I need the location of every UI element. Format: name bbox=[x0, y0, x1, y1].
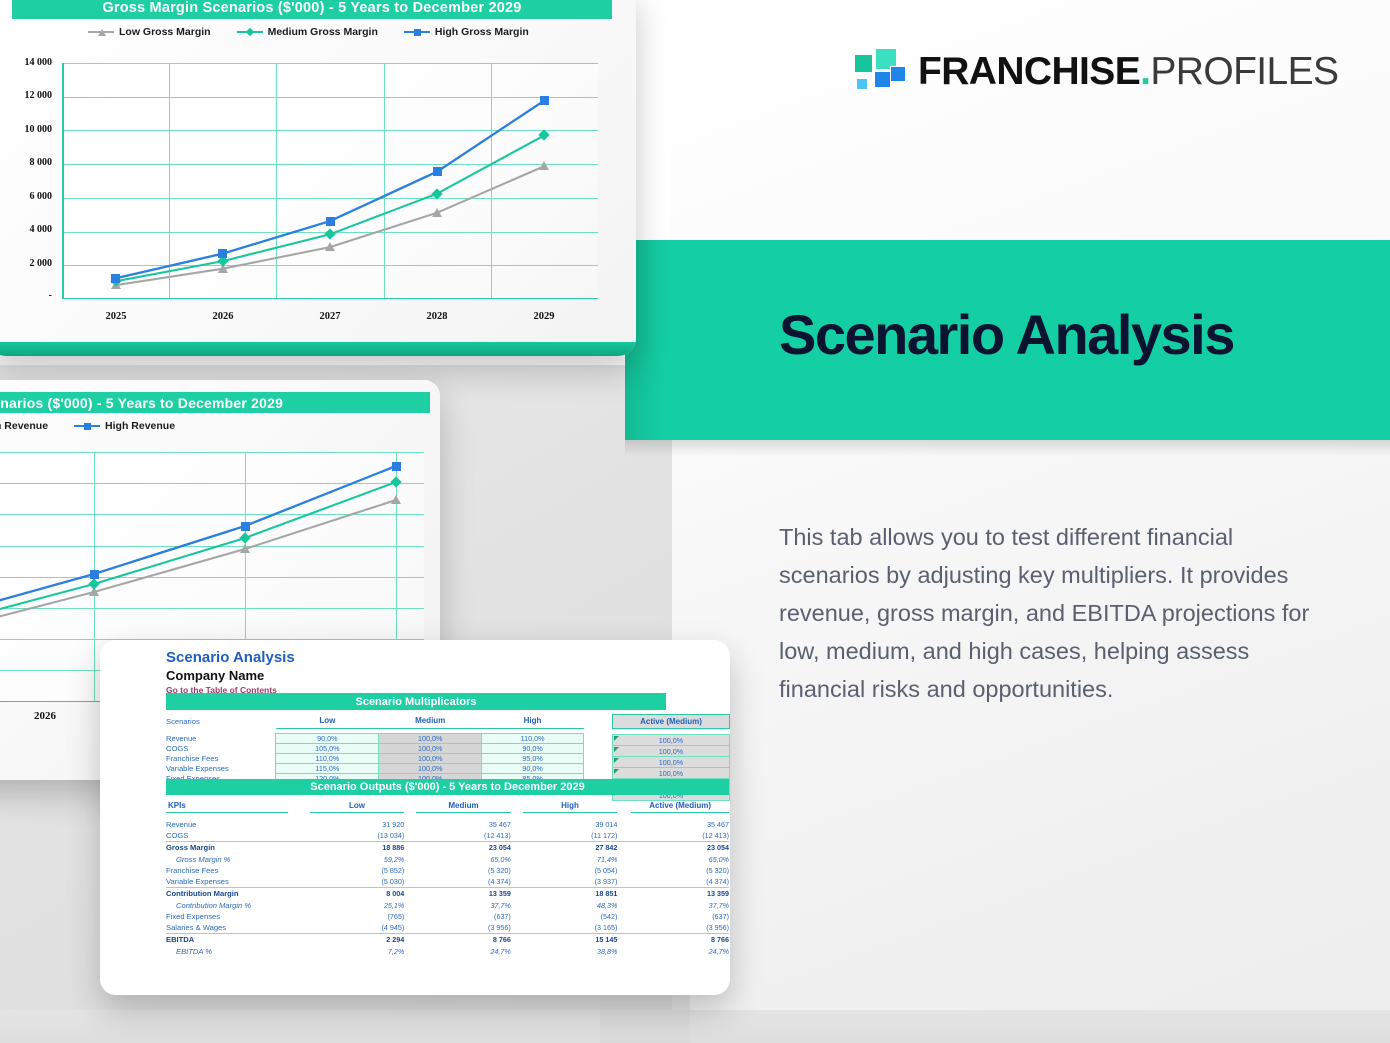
row-label: Revenue bbox=[166, 819, 288, 830]
column-header-high: High bbox=[482, 714, 584, 728]
comment-flag-icon bbox=[614, 736, 619, 741]
cell-high: 48,3% bbox=[523, 900, 618, 911]
cell-medium[interactable]: 100,0% bbox=[379, 753, 482, 763]
cell-high: (11 172) bbox=[523, 830, 618, 842]
cell-high: (3 165) bbox=[523, 922, 618, 934]
table-row: Variable Expenses (5 030) (4 374) (3 937… bbox=[166, 876, 729, 888]
gross-margin-plot-area bbox=[62, 63, 598, 299]
cell-low: 2 294 bbox=[310, 933, 405, 946]
cell-low[interactable]: 115,0% bbox=[276, 763, 379, 773]
table-row: Contribution Margin % 25,1% 37,7% 48,3% … bbox=[166, 900, 729, 911]
data-point bbox=[433, 167, 442, 176]
cell-active: (5 320) bbox=[631, 865, 729, 876]
data-point bbox=[540, 96, 549, 105]
cell-active: (4 374) bbox=[631, 876, 729, 888]
row-label: Franchise Fees bbox=[166, 865, 288, 876]
y-tick-8000: 8 000 bbox=[0, 157, 52, 168]
table-row: Gross Margin 18 886 23 054 27 842 23 054 bbox=[166, 841, 729, 854]
table-row: Salaries & Wages (4 945) (3 956) (3 165)… bbox=[166, 922, 729, 934]
table-row[interactable]: Variable Expenses 115,0% 100,0% 90,0% bbox=[166, 763, 584, 773]
x-tick-2026: 2026 bbox=[15, 710, 75, 722]
cell-low[interactable]: 90,0% bbox=[276, 733, 379, 743]
sheet-company-name: Company Name bbox=[166, 668, 264, 683]
gross-margin-chart-title: Gross Margin Scenarios ($'000) - 5 Years… bbox=[12, 0, 612, 19]
scenario-outputs-table: KPIs Low Medium High Active (Medium) Rev… bbox=[166, 799, 729, 957]
cell-medium: (4 374) bbox=[416, 876, 511, 888]
x-tick-2028: 2028 bbox=[407, 311, 467, 322]
page-title: Scenario Analysis bbox=[779, 307, 1234, 363]
row-label: Gross Margin % bbox=[166, 854, 288, 865]
line-marker-square-icon bbox=[404, 27, 430, 37]
row-label: Contribution Margin % bbox=[166, 900, 288, 911]
x-tick-2027: 2027 bbox=[300, 311, 360, 322]
cell-low: 7,2% bbox=[310, 946, 405, 957]
legend-item-medium: Medium Revenue bbox=[0, 420, 48, 432]
cell-medium: 65,0% bbox=[416, 854, 511, 865]
cell-medium: (12 413) bbox=[416, 830, 511, 842]
logo-text-dot: . bbox=[1140, 50, 1150, 93]
data-point bbox=[391, 495, 401, 504]
logo-text-franchise: FRANCHISE bbox=[918, 50, 1140, 93]
table-row: Contribution Margin 8 004 13 359 18 851 … bbox=[166, 887, 729, 900]
data-point bbox=[111, 274, 120, 283]
cell-high: 71,4% bbox=[523, 854, 618, 865]
cell-low: 18 886 bbox=[310, 841, 405, 854]
cell-low: 25,1% bbox=[310, 900, 405, 911]
cell-active[interactable]: 100,0% bbox=[613, 735, 730, 746]
table-row: COGS (13 034) (12 413) (11 172) (12 413) bbox=[166, 830, 729, 842]
cell-active: 13 359 bbox=[631, 887, 729, 900]
column-header-scenarios: Scenarios bbox=[166, 714, 276, 728]
gross-margin-chart-card[interactable]: Gross Margin Scenarios ($'000) - 5 Years… bbox=[0, 0, 636, 356]
data-point bbox=[241, 522, 250, 531]
row-label: Revenue bbox=[166, 733, 276, 743]
table-row: Fixed Expenses (765) (637) (542) (637) bbox=[166, 911, 729, 922]
cell-medium[interactable]: 100,0% bbox=[379, 733, 482, 743]
comment-flag-icon bbox=[614, 758, 619, 763]
gross-margin-series-lines bbox=[62, 63, 598, 299]
brand-logo[interactable]: FRANCHISE.PROFILES bbox=[852, 48, 1338, 94]
cell-active[interactable]: 100,0% bbox=[613, 768, 730, 779]
cell-active: (637) bbox=[631, 911, 729, 922]
y-tick-6000: 6 000 bbox=[0, 191, 52, 202]
cell-low: (765) bbox=[310, 911, 405, 922]
cell-low: (13 034) bbox=[310, 830, 405, 842]
x-tick-2029: 2029 bbox=[514, 311, 574, 322]
column-header-kpis: KPIs bbox=[166, 799, 288, 813]
background-bottom-strip bbox=[0, 1010, 1390, 1043]
row-label: Variable Expenses bbox=[166, 876, 288, 888]
legend-item-medium: Medium Gross Margin bbox=[237, 26, 378, 38]
row-label: Fixed Expenses bbox=[166, 911, 288, 922]
row-label: Franchise Fees bbox=[166, 753, 276, 763]
cell-high[interactable]: 90,0% bbox=[482, 763, 584, 773]
cell-medium: 37,7% bbox=[416, 900, 511, 911]
y-tick-zero: - bbox=[0, 290, 52, 301]
column-header-medium: Medium bbox=[379, 714, 482, 728]
cell-low[interactable]: 105,0% bbox=[276, 743, 379, 753]
cell-low: (5 030) bbox=[310, 876, 405, 888]
cell-medium: 35 467 bbox=[416, 819, 511, 830]
cell-high: 38,8% bbox=[523, 946, 618, 957]
cell-low[interactable]: 110,0% bbox=[276, 753, 379, 763]
cell-low: (4 945) bbox=[310, 922, 405, 934]
scenario-multiplicators-band: Scenario Multiplicators bbox=[166, 693, 666, 710]
data-point bbox=[240, 544, 250, 553]
cell-active: 65,0% bbox=[631, 854, 729, 865]
data-point bbox=[392, 462, 401, 471]
y-tick-14000: 14 000 bbox=[0, 57, 52, 68]
cell-active: 24,7% bbox=[631, 946, 729, 957]
cell-medium[interactable]: 100,0% bbox=[379, 743, 482, 753]
cell-active[interactable]: 100,0% bbox=[613, 757, 730, 768]
scenario-analysis-sheet-card[interactable]: Scenario Analysis Company Name Go to the… bbox=[100, 640, 730, 995]
row-label: Salaries & Wages bbox=[166, 922, 288, 934]
legend-label: High Revenue bbox=[105, 420, 175, 432]
column-header-medium: Medium bbox=[416, 799, 511, 813]
logo-wordmark: FRANCHISE.PROFILES bbox=[918, 52, 1338, 91]
data-point bbox=[325, 242, 335, 251]
comment-flag-icon bbox=[614, 769, 619, 774]
legend-label: Low Gross Margin bbox=[119, 26, 211, 38]
legend-item-high: High Revenue bbox=[74, 420, 175, 432]
cell-medium: (3 956) bbox=[416, 922, 511, 934]
cell-high: 27 842 bbox=[523, 841, 618, 854]
cell-high: 18 851 bbox=[523, 887, 618, 900]
cell-medium: 13 359 bbox=[416, 887, 511, 900]
row-label: Gross Margin bbox=[166, 841, 288, 854]
revenue-chart-title: Revenue Scenarios ($'000) - 5 Years to D… bbox=[0, 392, 430, 413]
revenue-legend: Low Revenue Medium Revenue High Revenue bbox=[0, 420, 175, 432]
cell-low: 59,2% bbox=[310, 854, 405, 865]
row-label: Variable Expenses bbox=[166, 763, 276, 773]
row-label: EBITDA bbox=[166, 933, 288, 946]
column-header-high: High bbox=[523, 799, 618, 813]
cell-low: 31 920 bbox=[310, 819, 405, 830]
line-marker-triangle-icon bbox=[88, 27, 114, 37]
gross-margin-legend: Low Gross Margin Medium Gross Margin Hig… bbox=[88, 26, 529, 38]
cell-active: (12 413) bbox=[631, 830, 729, 842]
cell-medium: 24,7% bbox=[416, 946, 511, 957]
cell-high[interactable]: 95,0% bbox=[482, 753, 584, 763]
data-point bbox=[539, 161, 549, 170]
table-header-row: KPIs Low Medium High Active (Medium) bbox=[166, 799, 729, 813]
line-marker-diamond-icon bbox=[237, 27, 263, 37]
cell-medium[interactable]: 100,0% bbox=[379, 763, 482, 773]
page-description: This tab allows you to test different fi… bbox=[779, 518, 1324, 708]
legend-item-low: Low Gross Margin bbox=[88, 26, 211, 38]
column-header-low: Low bbox=[310, 799, 405, 813]
line-marker-square-icon bbox=[74, 421, 100, 431]
table-row[interactable]: Franchise Fees 110,0% 100,0% 95,0% bbox=[166, 753, 584, 763]
cell-medium: (5 320) bbox=[416, 865, 511, 876]
cell-medium: 23 054 bbox=[416, 841, 511, 854]
logo-squares-icon bbox=[852, 48, 904, 94]
cell-active[interactable]: 100,0% bbox=[613, 746, 730, 757]
column-header-active: Active (Medium) bbox=[631, 799, 729, 813]
screenshot-stage: Gross Margin Scenarios ($'000) - 5 Years… bbox=[0, 0, 1390, 1043]
row-label: COGS bbox=[166, 830, 288, 842]
y-tick-4000: 4 000 bbox=[0, 224, 52, 235]
table-row: Gross Margin % 59,2% 65,0% 71,4% 65,0% bbox=[166, 854, 729, 865]
cell-active: 23 054 bbox=[631, 841, 729, 854]
cell-active: (3 956) bbox=[631, 922, 729, 934]
y-tick-10000: 10 000 bbox=[0, 124, 52, 135]
table-row: Revenue 31 920 35 467 39 014 35 467 bbox=[166, 819, 729, 830]
sheet-heading: Scenario Analysis bbox=[166, 649, 295, 666]
data-point bbox=[326, 217, 335, 226]
column-header-active: Active (Medium) bbox=[613, 715, 730, 729]
data-point bbox=[218, 249, 227, 258]
logo-text-profiles: PROFILES bbox=[1150, 50, 1338, 93]
cell-active: 37,7% bbox=[631, 900, 729, 911]
legend-label: Medium Revenue bbox=[0, 420, 48, 432]
row-label: COGS bbox=[166, 743, 276, 753]
legend-item-high: High Gross Margin bbox=[404, 26, 529, 38]
table-row[interactable]: COGS 105,0% 100,0% 90,0% bbox=[166, 743, 584, 753]
legend-label: Medium Gross Margin bbox=[268, 26, 378, 38]
legend-label: High Gross Margin bbox=[435, 26, 529, 38]
data-point bbox=[90, 570, 99, 579]
table-row: Franchise Fees (5 852) (5 320) (5 054) (… bbox=[166, 865, 729, 876]
comment-flag-icon bbox=[614, 747, 619, 752]
sheet-surface: Scenario Analysis Company Name Go to the… bbox=[100, 640, 730, 995]
hero-banner-bottom-shadow bbox=[625, 440, 1390, 456]
cell-low: 8 004 bbox=[310, 887, 405, 900]
column-header-low: Low bbox=[276, 714, 379, 728]
cell-high: 15 145 bbox=[523, 933, 618, 946]
scenario-outputs-band: Scenario Outputs ($'000) - 5 Years to De… bbox=[166, 779, 729, 795]
cell-active: 35 467 bbox=[631, 819, 729, 830]
card-footer-accent bbox=[0, 342, 636, 356]
cell-high: (542) bbox=[523, 911, 618, 922]
cell-low: (5 852) bbox=[310, 865, 405, 876]
cell-active: 8 766 bbox=[631, 933, 729, 946]
table-row: EBITDA 2 294 8 766 15 145 8 766 bbox=[166, 933, 729, 946]
cell-high[interactable]: 110,0% bbox=[482, 733, 584, 743]
y-tick-12000: 12 000 bbox=[0, 90, 52, 101]
table-row[interactable]: Revenue 90,0% 100,0% 110,0% bbox=[166, 733, 584, 743]
row-label: Contribution Margin bbox=[166, 887, 288, 900]
cell-high[interactable]: 90,0% bbox=[482, 743, 584, 753]
data-point bbox=[432, 208, 442, 217]
cell-medium: 8 766 bbox=[416, 933, 511, 946]
x-tick-2025: 2025 bbox=[86, 311, 146, 322]
cell-medium: (637) bbox=[416, 911, 511, 922]
row-label: EBITDA % bbox=[166, 946, 288, 957]
table-header-row: Scenarios Low Medium High bbox=[166, 714, 584, 728]
cell-high: (5 054) bbox=[523, 865, 618, 876]
cell-high: (3 937) bbox=[523, 876, 618, 888]
x-tick-2026: 2026 bbox=[193, 311, 253, 322]
y-tick-2000: 2 000 bbox=[0, 258, 52, 269]
cell-high: 39 014 bbox=[523, 819, 618, 830]
table-row: EBITDA % 7,2% 24,7% 38,8% 24,7% bbox=[166, 946, 729, 957]
